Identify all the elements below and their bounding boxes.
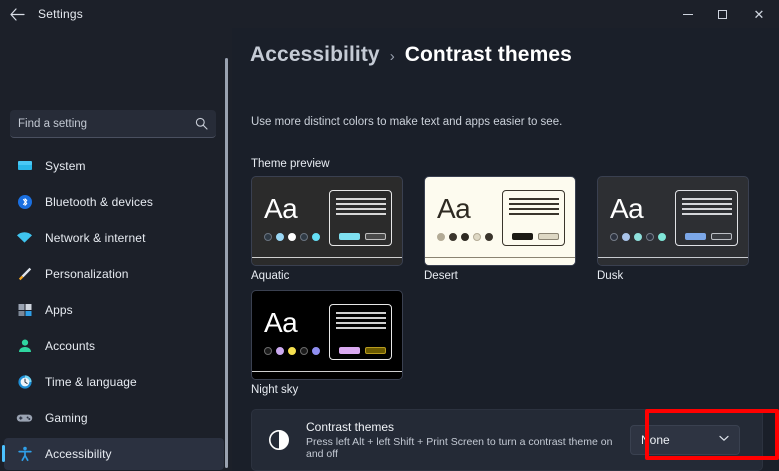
theme-card-swatch bbox=[646, 233, 654, 241]
sidebar-item-system[interactable]: System bbox=[4, 150, 224, 182]
title-bar: Settings ✕ bbox=[0, 0, 779, 28]
breadcrumb-parent[interactable]: Accessibility bbox=[250, 43, 380, 67]
theme-card-preview-lines bbox=[336, 312, 386, 332]
sidebar-scrollbar-thumb[interactable] bbox=[225, 58, 228, 468]
theme-card-slot: AaDesert bbox=[424, 176, 576, 282]
theme-card-preview-line bbox=[336, 312, 386, 314]
theme-card-name: Aquatic bbox=[251, 270, 403, 282]
theme-card-preview-line bbox=[509, 203, 559, 205]
theme-card-swatch bbox=[485, 233, 493, 241]
theme-card-swatch bbox=[449, 233, 457, 241]
sidebar-item-apps[interactable]: Apps bbox=[4, 294, 224, 326]
theme-card-swatch bbox=[473, 233, 481, 241]
theme-card-preview-buttons bbox=[339, 233, 386, 240]
dropdown-selected-value: None bbox=[641, 433, 670, 447]
theme-card-grid: AaAquaticAaDesertAaDuskAaNight sky bbox=[251, 176, 771, 404]
theme-card-preview-button-secondary bbox=[538, 233, 559, 240]
theme-card-sample-text: Aa bbox=[264, 193, 297, 225]
theme-card-preview-button-primary bbox=[512, 233, 533, 240]
theme-card-swatch bbox=[610, 233, 618, 241]
sidebar-item-label: Personalization bbox=[45, 267, 129, 281]
theme-card-preview-button-secondary bbox=[711, 233, 732, 240]
content-area: Accessibility › Contrast themes Use more… bbox=[232, 28, 779, 471]
theme-card-preview-button-secondary bbox=[365, 347, 386, 354]
gamepad-icon bbox=[16, 410, 33, 427]
theme-card-swatches bbox=[264, 233, 320, 241]
theme-card-preview-button-primary bbox=[339, 233, 360, 240]
theme-card-taskbar bbox=[252, 257, 403, 265]
theme-card-swatch bbox=[300, 347, 308, 355]
sidebar-item-label: Gaming bbox=[45, 411, 88, 425]
system-icon bbox=[16, 158, 33, 175]
wifi-icon bbox=[16, 230, 33, 247]
theme-card-swatch bbox=[288, 233, 296, 241]
bluetooth-icon bbox=[16, 194, 33, 211]
theme-card-swatch bbox=[264, 233, 272, 241]
theme-card-swatch bbox=[437, 233, 445, 241]
theme-card-swatch bbox=[288, 347, 296, 355]
maximize-icon bbox=[718, 10, 727, 19]
sidebar-item-bluetooth-devices[interactable]: Bluetooth & devices bbox=[4, 186, 224, 218]
theme-card-preview-line bbox=[682, 213, 732, 215]
theme-card-swatch bbox=[634, 233, 642, 241]
theme-card-preview-line bbox=[682, 198, 732, 200]
theme-card-name: Night sky bbox=[251, 384, 403, 396]
theme-card-preview-buttons bbox=[685, 233, 732, 240]
sidebar: System Bluetooth & devices bbox=[0, 28, 232, 471]
sidebar-item-network-internet[interactable]: Network & internet bbox=[4, 222, 224, 254]
sidebar-item-label: Accounts bbox=[45, 339, 95, 353]
theme-card-preview-button-primary bbox=[339, 347, 360, 354]
theme-card-preview-lines bbox=[336, 198, 386, 218]
theme-card-preview-line bbox=[336, 213, 386, 215]
theme-card-preview-line bbox=[682, 203, 732, 205]
back-arrow-icon bbox=[10, 8, 25, 21]
theme-card-swatch bbox=[461, 233, 469, 241]
settings-window: Settings ✕ bbox=[0, 0, 779, 471]
back-button[interactable] bbox=[0, 0, 34, 28]
sidebar-item-time-language[interactable]: Time & language bbox=[4, 366, 224, 398]
theme-card-preview-lines bbox=[682, 198, 732, 218]
theme-card-preview-line bbox=[336, 327, 386, 329]
theme-card-preview-button-primary bbox=[685, 233, 706, 240]
sidebar-item-gaming[interactable]: Gaming bbox=[4, 402, 224, 434]
breadcrumb-separator-icon: › bbox=[390, 48, 395, 65]
contrast-row-texts: Contrast themes Press left Alt + left Sh… bbox=[306, 420, 630, 460]
theme-card[interactable]: Aa bbox=[251, 176, 403, 266]
theme-card[interactable]: Aa bbox=[424, 176, 576, 266]
theme-card-sample-text: Aa bbox=[437, 193, 470, 225]
theme-card-slot: AaDusk bbox=[597, 176, 749, 282]
accessibility-icon bbox=[16, 446, 33, 463]
clock-icon bbox=[16, 374, 33, 391]
theme-card-preview-line bbox=[509, 198, 559, 200]
theme-card-window-preview bbox=[502, 190, 565, 246]
theme-card-swatch bbox=[276, 347, 284, 355]
contrast-theme-dropdown[interactable]: None bbox=[630, 425, 740, 455]
page-title: Contrast themes bbox=[405, 43, 572, 67]
theme-card-name: Desert bbox=[424, 270, 576, 282]
apps-icon bbox=[16, 302, 33, 319]
sidebar-item-label: Bluetooth & devices bbox=[45, 195, 153, 209]
theme-card-swatch bbox=[622, 233, 630, 241]
sidebar-item-label: System bbox=[45, 159, 86, 173]
contrast-icon bbox=[268, 429, 290, 451]
theme-card-swatch bbox=[312, 347, 320, 355]
close-icon: ✕ bbox=[754, 8, 765, 21]
account-icon bbox=[16, 338, 33, 355]
theme-card-swatches bbox=[610, 233, 666, 241]
minimize-button[interactable] bbox=[671, 0, 705, 28]
sidebar-nav: System Bluetooth & devices bbox=[0, 150, 232, 471]
search-icon bbox=[195, 117, 208, 130]
minimize-icon bbox=[683, 14, 693, 15]
theme-card-slot: AaNight sky bbox=[251, 290, 403, 396]
theme-card-swatch bbox=[276, 233, 284, 241]
chevron-down-icon bbox=[719, 435, 729, 445]
theme-card-taskbar bbox=[598, 257, 749, 265]
theme-card-taskbar bbox=[252, 371, 403, 379]
sidebar-item-label: Network & internet bbox=[45, 231, 146, 245]
theme-card-window-preview bbox=[329, 190, 392, 246]
theme-card-name: Dusk bbox=[597, 270, 749, 282]
theme-card-preview-buttons bbox=[339, 347, 386, 354]
theme-card-swatches bbox=[264, 347, 320, 355]
theme-card-preview-line bbox=[336, 208, 386, 210]
search-box[interactable] bbox=[10, 110, 216, 138]
theme-card-swatches bbox=[437, 233, 493, 241]
theme-preview-label: Theme preview bbox=[251, 158, 330, 170]
sidebar-item-label: Time & language bbox=[45, 375, 137, 389]
theme-card[interactable]: Aa bbox=[251, 290, 403, 380]
contrast-row-title: Contrast themes bbox=[306, 420, 630, 434]
contrast-row-subtitle: Press left Alt + left Shift + Print Scre… bbox=[306, 436, 630, 460]
theme-card-sample-text: Aa bbox=[610, 193, 643, 225]
window-title: Settings bbox=[38, 7, 83, 21]
theme-card-preview-line bbox=[336, 322, 386, 324]
theme-card-swatch bbox=[312, 233, 320, 241]
theme-card-preview-line bbox=[509, 213, 559, 215]
sidebar-item-personalization[interactable]: Personalization bbox=[4, 258, 224, 290]
theme-card-taskbar bbox=[425, 257, 576, 265]
breadcrumb: Accessibility › Contrast themes bbox=[250, 43, 572, 67]
close-button[interactable]: ✕ bbox=[739, 0, 779, 28]
theme-card-preview-line bbox=[509, 208, 559, 210]
theme-card-preview-line bbox=[336, 317, 386, 319]
paintbrush-icon bbox=[16, 266, 33, 283]
theme-card-window-preview bbox=[675, 190, 738, 246]
sidebar-item-label: Accessibility bbox=[45, 447, 112, 461]
theme-card-preview-lines bbox=[509, 198, 559, 218]
search-input[interactable] bbox=[18, 118, 195, 130]
contrast-themes-row: Contrast themes Press left Alt + left Sh… bbox=[251, 409, 763, 471]
maximize-button[interactable] bbox=[705, 0, 739, 28]
sidebar-item-accounts[interactable]: Accounts bbox=[4, 330, 224, 362]
theme-card-preview-line bbox=[336, 203, 386, 205]
theme-card-preview-buttons bbox=[512, 233, 559, 240]
theme-card-preview-line bbox=[336, 198, 386, 200]
sidebar-item-label: Apps bbox=[45, 303, 73, 317]
theme-card-swatch bbox=[264, 347, 272, 355]
theme-card-swatch bbox=[300, 233, 308, 241]
theme-card-window-preview bbox=[329, 304, 392, 360]
theme-card-preview-button-secondary bbox=[365, 233, 386, 240]
theme-card-swatch bbox=[658, 233, 666, 241]
theme-card[interactable]: Aa bbox=[597, 176, 749, 266]
page-subtitle: Use more distinct colors to make text an… bbox=[251, 116, 562, 128]
theme-card-slot: AaAquatic bbox=[251, 176, 403, 282]
theme-card-preview-line bbox=[682, 208, 732, 210]
sidebar-item-accessibility[interactable]: Accessibility bbox=[4, 438, 224, 470]
window-controls: ✕ bbox=[671, 0, 779, 28]
theme-card-sample-text: Aa bbox=[264, 307, 297, 339]
